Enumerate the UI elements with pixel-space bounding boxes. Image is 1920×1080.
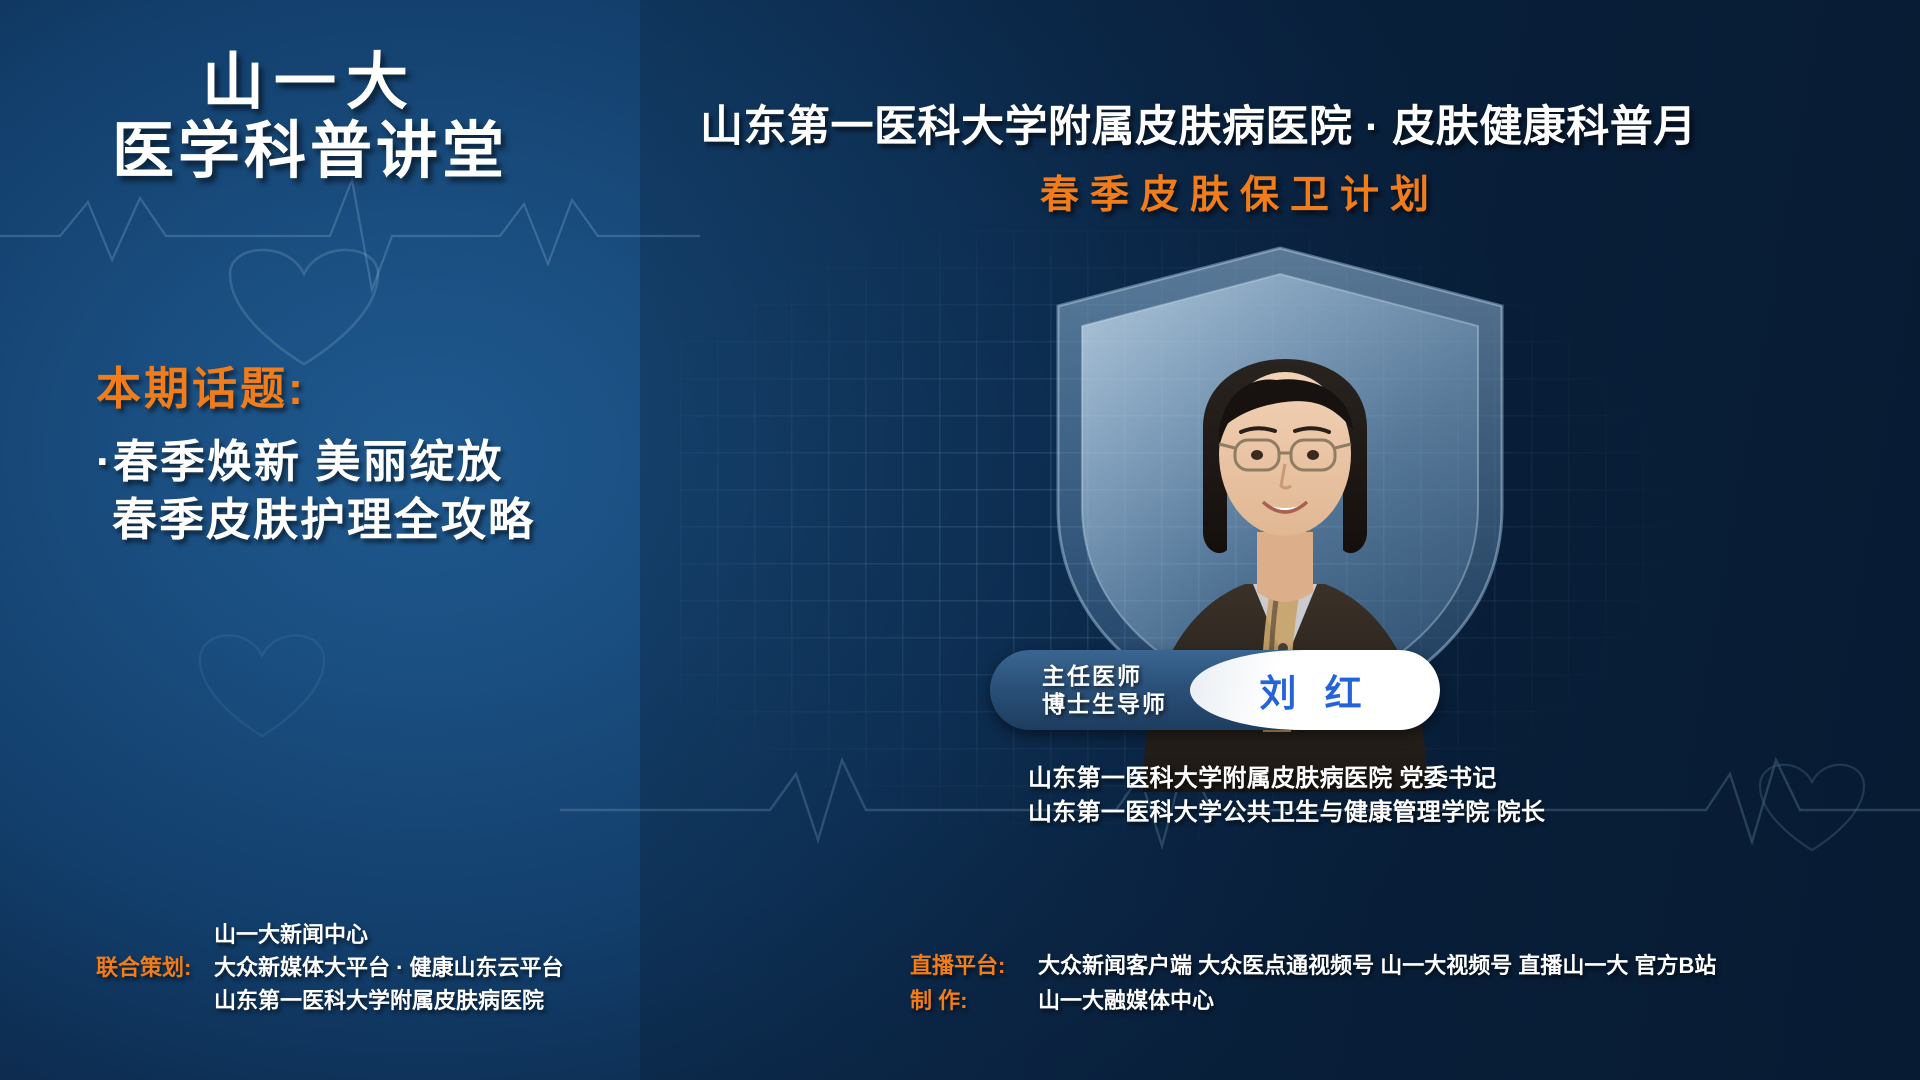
topic-lines: ·春季焕新 美丽绽放 春季皮肤护理全攻略 [96, 433, 716, 548]
footer-right: 直播平台: 大众新闻客户端 大众医点通视频号 山一大视频号 直播山一大 官方B站… [910, 948, 1716, 1018]
topic-block: 本期话题: ·春季焕新 美丽绽放 春季皮肤护理全攻略 [96, 352, 716, 548]
footer-left-value-2: 大众新媒体大平台 · 健康山东云平台 [214, 951, 564, 984]
speaker-title-line-1: 主任医师 [1042, 662, 1167, 690]
topic-label: 本期话题: [96, 352, 716, 417]
live-platform-key: 直播平台: [910, 948, 1038, 983]
topic-line-1: ·春季焕新 美丽绽放 [96, 433, 716, 491]
footer-left-row-3: 山东第一医科大学附属皮肤病医院 [96, 984, 564, 1017]
header-block: 山东第一医科大学附属皮肤病医院 · 皮肤健康科普月 春季皮肤保卫计划 [700, 92, 1920, 220]
footer-left-row-2: 联合策划: 大众新媒体大平台 · 健康山东云平台 [96, 951, 564, 984]
page-title: 山东第一医科大学附属皮肤病医院 · 皮肤健康科普月 [700, 92, 1920, 154]
produce-key: 制 作: [910, 983, 1038, 1018]
footer-right-row-platform: 直播平台: 大众新闻客户端 大众医点通视频号 山一大视频号 直播山一大 官方B站 [910, 948, 1716, 983]
credential-line-2: 山东第一医科大学公共卫生与健康管理学院 院长 [1028, 796, 1648, 830]
topic-line-2: 春季皮肤护理全攻略 [96, 491, 716, 549]
speaker-credentials: 山东第一医科大学附属皮肤病医院 党委书记 山东第一医科大学公共卫生与健康管理学院… [1028, 762, 1648, 830]
brand-line-2: 医学科普讲堂 [0, 117, 620, 186]
speaker-name-badge: 主任医师 博士生导师 刘 红 [990, 650, 1440, 730]
footer-left-value-3: 山东第一医科大学附属皮肤病医院 [214, 984, 544, 1017]
speaker-name: 刘 红 [1190, 650, 1440, 730]
footer-left: 山一大新闻中心 联合策划: 大众新媒体大平台 · 健康山东云平台 山东第一医科大… [96, 918, 564, 1017]
speaker-title: 主任医师 博士生导师 [1042, 662, 1167, 718]
footer-right-row-produce: 制 作: 山一大融媒体中心 [910, 983, 1716, 1018]
brand-title: 山一大 医学科普讲堂 [0, 48, 620, 187]
page-subtitle: 春季皮肤保卫计划 [700, 164, 1920, 220]
speaker-title-line-2: 博士生导师 [1042, 690, 1167, 718]
footer-left-row-1: 山一大新闻中心 [96, 918, 564, 951]
footer-left-key: 联合策划: [96, 951, 214, 984]
credential-line-1: 山东第一医科大学附属皮肤病医院 党委书记 [1028, 762, 1648, 796]
produce-value: 山一大融媒体中心 [1038, 983, 1214, 1018]
brand-line-1: 山一大 [0, 48, 620, 117]
live-platform-value: 大众新闻客户端 大众医点通视频号 山一大视频号 直播山一大 官方B站 [1038, 948, 1716, 983]
footer-left-value-1: 山一大新闻中心 [214, 918, 368, 951]
